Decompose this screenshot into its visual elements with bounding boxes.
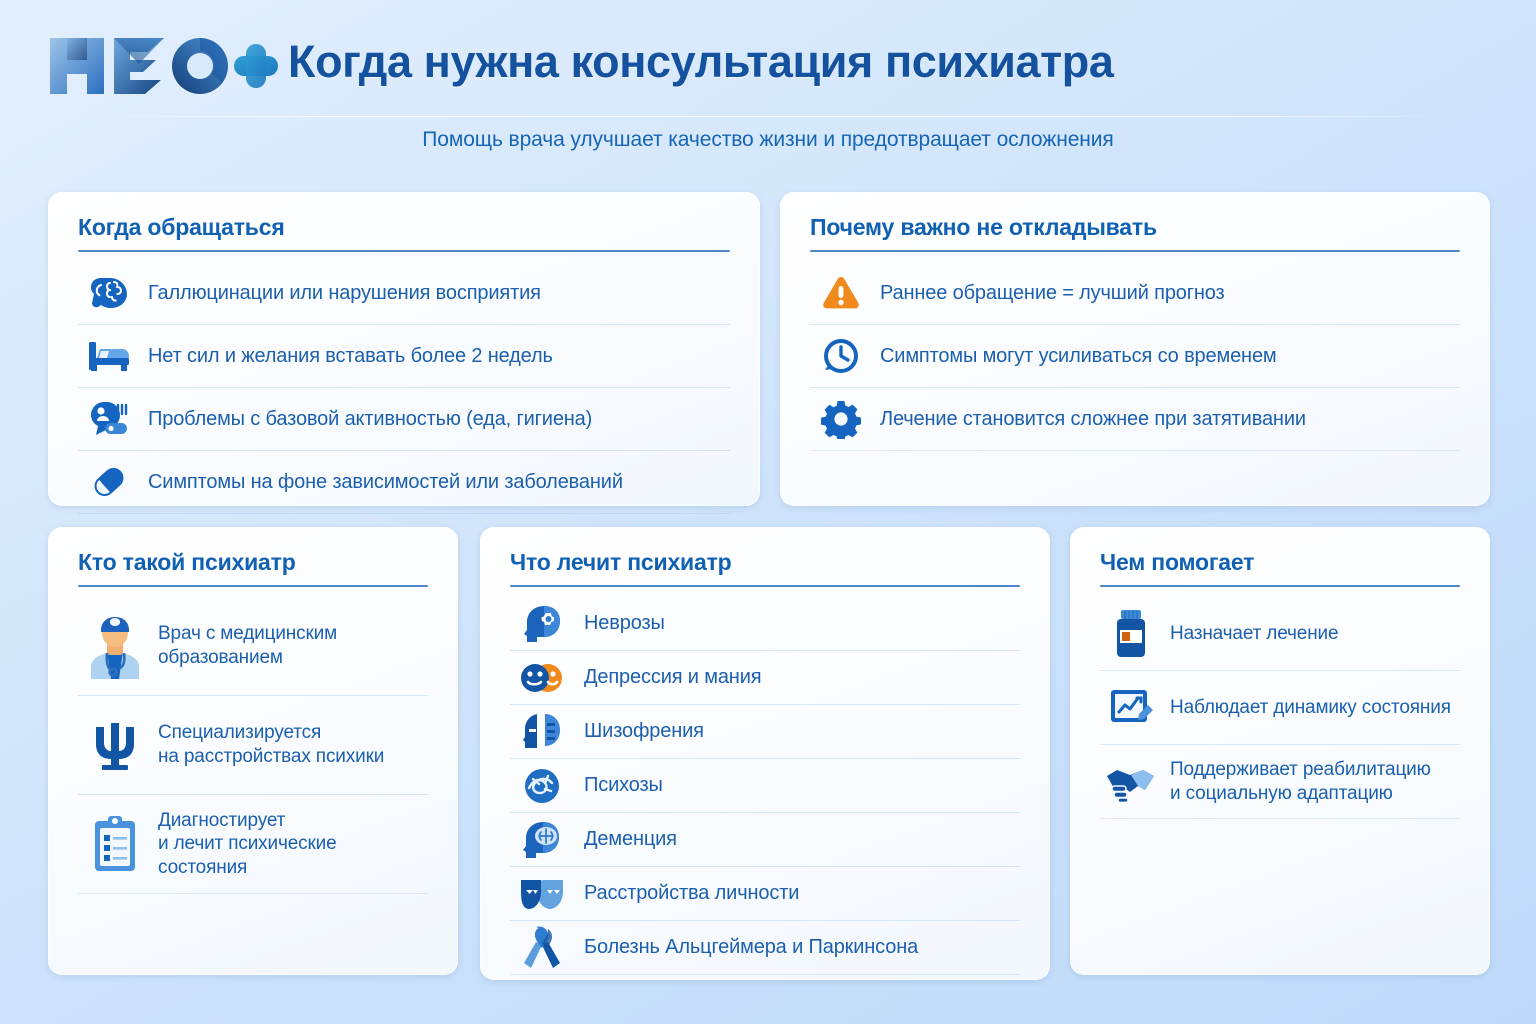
list-item[interactable]: Шизофрения — [510, 705, 1020, 759]
list-item-label: Неврозы — [584, 611, 665, 636]
bed-icon — [78, 332, 140, 380]
two-masks-faces-icon — [510, 655, 574, 701]
card-what-psychiatrist-treats: Что лечит психиатр Неврозы — [480, 527, 1050, 980]
neo-plus-logo — [48, 34, 278, 98]
list-item-label: Нет сил и желания вставать более 2 недел… — [148, 344, 553, 369]
list-item[interactable]: Симптомы могут усиливаться со временем — [810, 325, 1460, 388]
list-item[interactable]: Болезнь Альцгеймера и Паркинсона — [510, 921, 1020, 975]
list-item-label: Депрессия и мания — [584, 665, 761, 690]
self-care-icon — [78, 395, 140, 443]
line-2: образованием — [158, 647, 283, 668]
line-1: Диагностирует — [158, 810, 285, 831]
title-underline — [810, 250, 1460, 252]
list-item-label: Наблюдает динамику состояния — [1170, 696, 1451, 720]
item-list: Врач с медицинским образованием — [78, 597, 428, 894]
list-item-label: Деменция — [584, 827, 677, 852]
title-underline — [78, 585, 428, 587]
line-1: Поддерживает реабилитацию — [1170, 759, 1431, 780]
pill-bottle-icon — [1100, 605, 1162, 663]
page-title: Когда нужна консультация психиатра — [288, 36, 1114, 88]
card-title: Чем помогает — [1100, 549, 1460, 576]
list-item[interactable]: Раннее обращение = лучший прогноз — [810, 262, 1460, 325]
split-head-icon — [510, 709, 574, 755]
list-item[interactable]: Назначает лечение — [1100, 597, 1460, 671]
list-item-label: Раннее обращение = лучший прогноз — [880, 281, 1225, 306]
list-item-label: Галлюцинации или нарушения восприятия — [148, 281, 541, 306]
list-item-label: Специализируется на расстройствах психик… — [158, 721, 384, 768]
line-1: Наблюдает динамику состояния — [1170, 697, 1451, 718]
card-how-it-helps: Чем помогает Назначает л — [1070, 527, 1490, 975]
doctor-avatar-icon — [78, 608, 152, 684]
warning-triangle-icon — [810, 269, 872, 317]
line-1: Назначает лечение — [1170, 623, 1338, 644]
list-item[interactable]: Наблюдает динамику состояния — [1100, 671, 1460, 745]
card-title: Когда обращаться — [78, 214, 730, 241]
card-header: Когда обращаться — [78, 214, 730, 252]
list-item[interactable]: Диагностирует и лечит психические состоя… — [78, 795, 428, 894]
clock-icon — [810, 332, 872, 380]
item-list: Раннее обращение = лучший прогноз Симпто… — [810, 262, 1460, 451]
capsule-pill-icon — [78, 458, 140, 506]
line-2: и социальную адаптацию — [1170, 783, 1393, 804]
list-item-label: Врач с медицинским образованием — [158, 622, 337, 669]
list-item[interactable]: Поддерживает реабилитацию и социальную а… — [1100, 745, 1460, 819]
head-brain-icon — [510, 817, 574, 863]
list-item-label: Шизофрения — [584, 719, 704, 744]
line-2: и лечит психические состояния — [158, 833, 337, 878]
gear-icon — [810, 395, 872, 443]
list-item[interactable]: Нет сил и желания вставать более 2 недел… — [78, 325, 730, 388]
handshake-icon — [1100, 753, 1162, 811]
list-item[interactable]: Депрессия и мания — [510, 651, 1020, 705]
list-item-label: Проблемы с базовой активностью (еда, гиг… — [148, 407, 592, 432]
page-header: Когда нужна консультация психиатра Помощ… — [0, 0, 1536, 170]
card-title: Кто такой психиатр — [78, 549, 428, 576]
list-item-label: Расстройства личности — [584, 881, 799, 906]
awareness-ribbon-icon — [510, 925, 574, 971]
item-list: Галлюцинации или нарушения восприятия Не… — [78, 262, 730, 514]
card-why-not-delay: Почему важно не откладывать Раннее обращ… — [780, 192, 1490, 506]
list-item[interactable]: Неврозы — [510, 597, 1020, 651]
line-2: на расстройствах психики — [158, 746, 384, 767]
card-header: Почему важно не откладывать — [810, 214, 1460, 252]
theater-masks-icon — [510, 871, 574, 917]
list-item[interactable]: Расстройства личности — [510, 867, 1020, 921]
item-list: Неврозы Депрессия и мания — [510, 597, 1020, 975]
card-when-to-seek-help: Когда обращаться — [48, 192, 760, 506]
page-subtitle: Помощь врача улучшает качество жизни и п… — [0, 128, 1536, 152]
list-item-label: Назначает лечение — [1170, 622, 1338, 646]
clipboard-icon — [78, 806, 152, 882]
list-item-label: Психозы — [584, 773, 663, 798]
list-item-label: Симптомы могут усиливаться со временем — [880, 344, 1277, 369]
card-header: Кто такой психиатр — [78, 549, 428, 587]
chart-monitor-icon — [1100, 679, 1162, 737]
head-gear-icon — [510, 601, 574, 647]
card-header: Чем помогает — [1100, 549, 1460, 587]
brain-icon — [78, 269, 140, 317]
item-list: Назначает лечение Наблюдает динамику сос… — [1100, 597, 1460, 819]
card-title: Что лечит психиатр — [510, 549, 1020, 576]
tangled-mind-icon — [510, 763, 574, 809]
list-item-label: Диагностирует и лечит психические состоя… — [158, 809, 428, 880]
list-item[interactable]: Врач с медицинским образованием — [78, 597, 428, 696]
list-item[interactable]: Специализируется на расстройствах психик… — [78, 696, 428, 795]
list-item-label: Болезнь Альцгеймера и Паркинсона — [584, 935, 918, 960]
title-underline — [78, 250, 730, 252]
list-item-label: Лечение становится сложнее при затятиван… — [880, 407, 1306, 432]
list-item-label: Симптомы на фоне зависимостей или заболе… — [148, 470, 623, 495]
header-divider — [70, 116, 1466, 117]
card-header: Что лечит психиатр — [510, 549, 1020, 587]
title-underline — [1100, 585, 1460, 587]
line-1: Врач с медицинским — [158, 623, 337, 644]
infographic-page: Когда нужна консультация психиатра Помощ… — [0, 0, 1536, 1024]
list-item[interactable]: Деменция — [510, 813, 1020, 867]
list-item[interactable]: Симптомы на фоне зависимостей или заболе… — [78, 451, 730, 514]
list-item[interactable]: Лечение становится сложнее при затятиван… — [810, 388, 1460, 451]
title-underline — [510, 585, 1020, 587]
card-who-is-psychiatrist: Кто такой психиатр — [48, 527, 458, 975]
list-item-label: Поддерживает реабилитацию и социальную а… — [1170, 758, 1431, 805]
psi-symbol-icon — [78, 707, 152, 783]
card-title: Почему важно не откладывать — [810, 214, 1460, 241]
list-item[interactable]: Проблемы с базовой активностью (еда, гиг… — [78, 388, 730, 451]
line-1: Специализируется — [158, 722, 321, 743]
list-item[interactable]: Психозы — [510, 759, 1020, 813]
list-item[interactable]: Галлюцинации или нарушения восприятия — [78, 262, 730, 325]
